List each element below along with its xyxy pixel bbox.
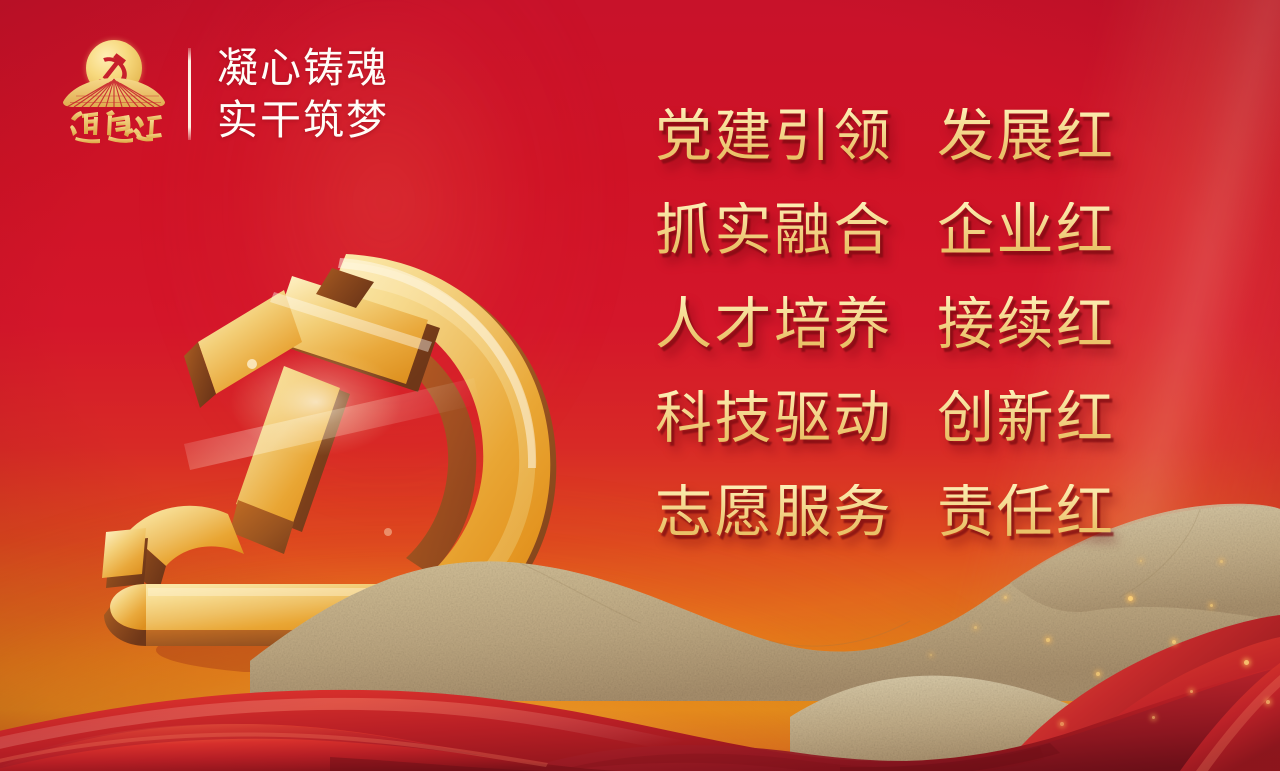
slogan-suffix: 发展红 [937,108,1116,165]
party-building-poster: 凝心铸魂 实干筑梦 [0,0,1280,771]
slogan-suffix: 创新红 [937,390,1116,447]
logo-divider [188,48,191,140]
brand-logo-lockup[interactable]: 凝心铸魂 实干筑梦 [62,38,389,150]
slogan-row: 志愿服务 责任红 [655,484,1116,578]
slogan-phrase: 抓实融合 [655,202,893,259]
slogan-row: 科技驱动 创新红 [655,390,1116,484]
slogan-row: 党建引领 发展红 [655,108,1116,202]
slogan-suffix: 接续红 [937,296,1116,353]
slogan-suffix: 责任红 [937,484,1116,541]
brand-name-calligraphy [68,104,162,148]
slogan-phrase: 人才培养 [655,296,893,353]
slogan-phrase: 科技驱动 [655,390,893,447]
cpc-party-emblem-3d [88,232,598,672]
brand-slogan: 凝心铸魂 实干筑梦 [217,43,389,145]
tongwei-red-logo-mark [62,38,166,150]
brand-slogan-line-1: 凝心铸魂 [217,43,389,93]
slogan-list: 党建引领 发展红 抓实融合 企业红 人才培养 接续红 科技驱动 创新红 志愿服务… [655,108,1116,578]
slogan-row: 人才培养 接续红 [655,296,1116,390]
slogan-suffix: 企业红 [937,202,1116,259]
brand-slogan-line-2: 实干筑梦 [217,95,389,145]
slogan-phrase: 党建引领 [655,108,893,165]
slogan-row: 抓实融合 企业红 [655,202,1116,296]
slogan-phrase: 志愿服务 [655,484,893,541]
